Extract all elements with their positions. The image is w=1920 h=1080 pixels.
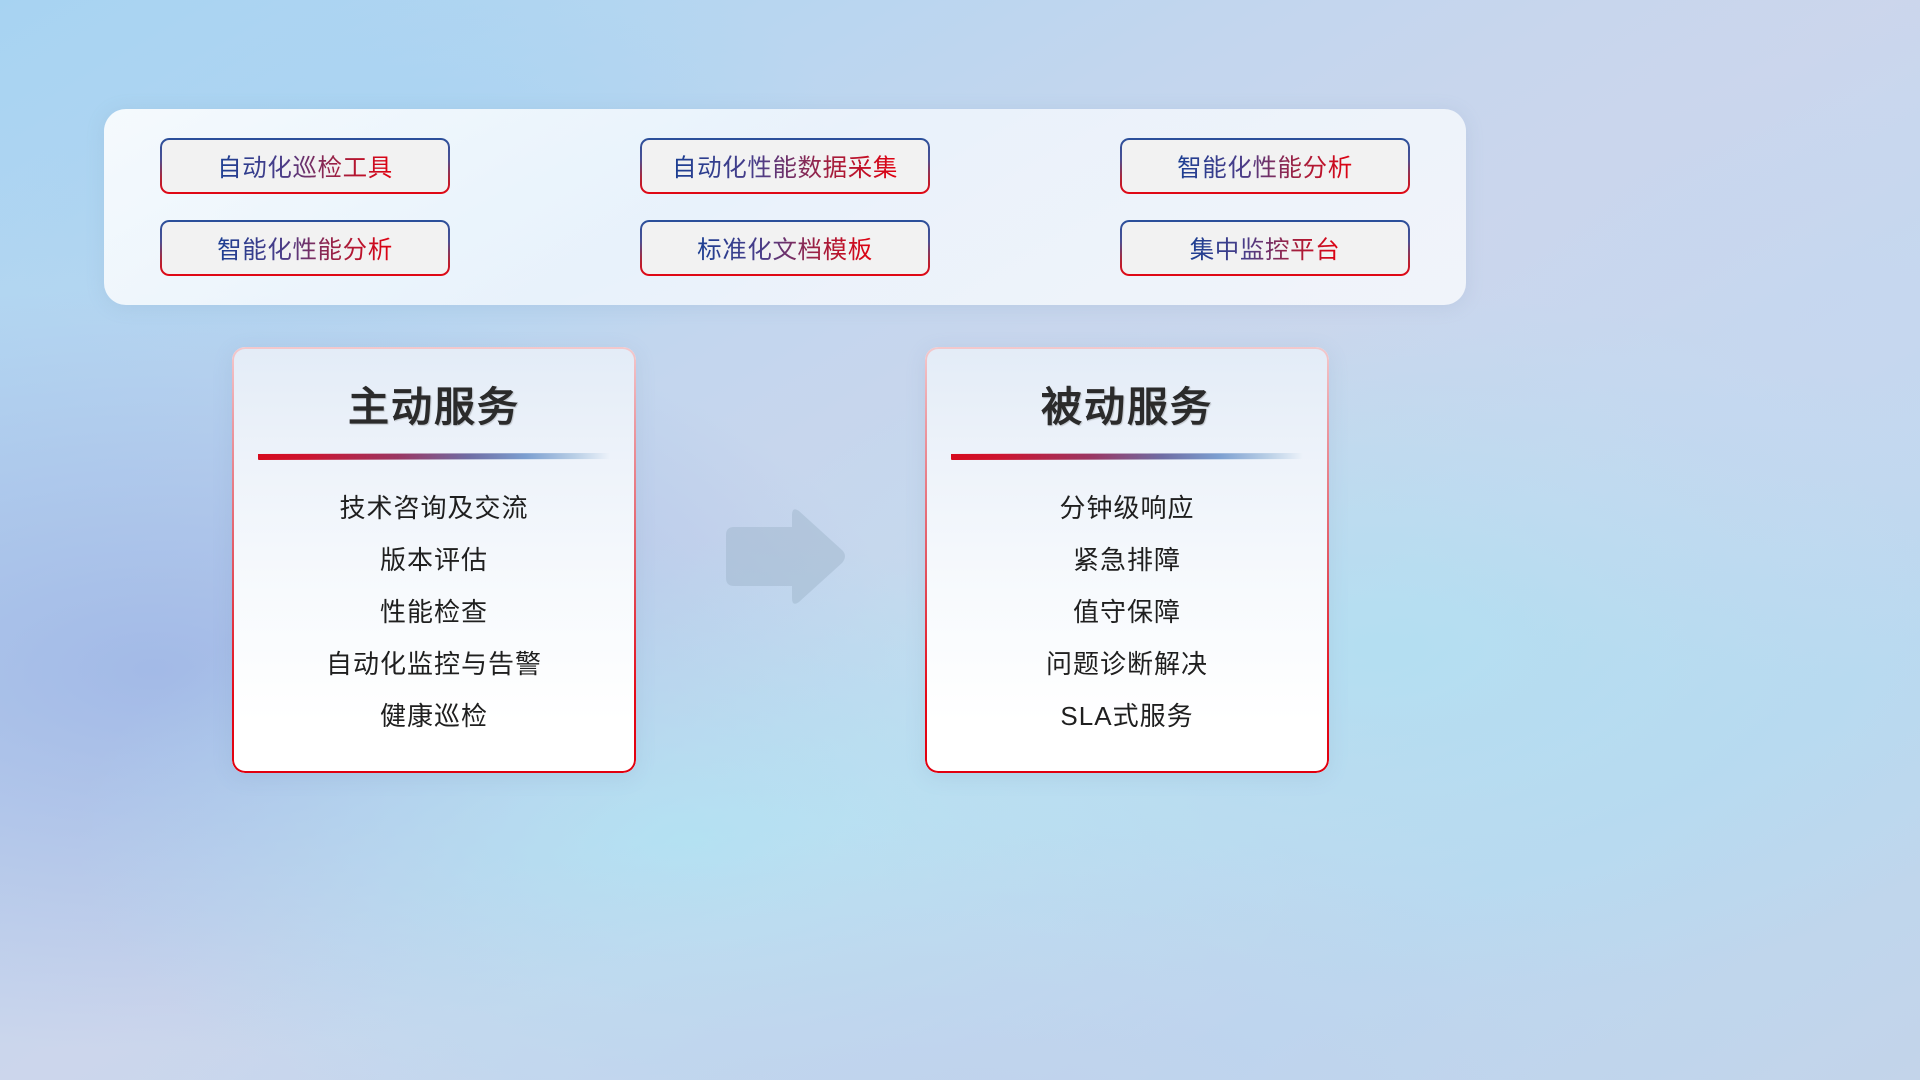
- arrow-right-icon: [718, 505, 848, 609]
- service-card-divider: [951, 453, 1303, 460]
- capability-row-1: 自动化巡检工具 自动化性能数据采集 智能化性能分析: [160, 138, 1410, 194]
- service-card-list: 分钟级响应 紧急排障 值守保障 问题诊断解决 SLA式服务: [925, 482, 1329, 742]
- capability-pill-label: 自动化巡检工具: [217, 149, 393, 184]
- capability-row-2: 智能化性能分析 标准化文档模板 集中监控平台: [160, 220, 1410, 276]
- capability-panel: 自动化巡检工具 自动化性能数据采集 智能化性能分析 智能化性能分析 标准化文档模…: [104, 109, 1466, 305]
- service-card-divider: [258, 453, 610, 460]
- list-item[interactable]: SLA式服务: [1060, 690, 1193, 742]
- capability-pill-centralized-monitoring-platform[interactable]: 集中监控平台: [1120, 220, 1410, 276]
- service-card-title: 被动服务: [1041, 373, 1213, 433]
- list-item[interactable]: 问题诊断解决: [1046, 638, 1208, 690]
- list-item[interactable]: 值守保障: [1073, 586, 1181, 638]
- list-item[interactable]: 性能检查: [380, 586, 488, 638]
- list-item[interactable]: 健康巡检: [380, 690, 488, 742]
- capability-pill-intelligent-performance-analysis[interactable]: 智能化性能分析: [1120, 138, 1410, 194]
- list-item[interactable]: 紧急排障: [1073, 534, 1181, 586]
- capability-pill-automated-inspection-tool[interactable]: 自动化巡检工具: [160, 138, 450, 194]
- list-item[interactable]: 版本评估: [380, 534, 488, 586]
- capability-pill-label: 集中监控平台: [1190, 231, 1341, 266]
- service-card-title: 主动服务: [348, 373, 520, 433]
- service-card-list: 技术咨询及交流 版本评估 性能检查 自动化监控与告警 健康巡检: [232, 482, 636, 742]
- capability-pill-label: 自动化性能数据采集: [672, 149, 898, 184]
- list-item[interactable]: 技术咨询及交流: [339, 482, 528, 534]
- capability-pill-intelligent-performance-analysis-2[interactable]: 智能化性能分析: [160, 220, 450, 276]
- capability-pill-label: 标准化文档模板: [697, 231, 873, 266]
- capability-pill-standardized-document-template[interactable]: 标准化文档模板: [640, 220, 930, 276]
- capability-pill-label: 智能化性能分析: [1177, 149, 1353, 184]
- capability-pill-automated-performance-data-collection[interactable]: 自动化性能数据采集: [640, 138, 930, 194]
- list-item[interactable]: 分钟级响应: [1059, 482, 1194, 534]
- service-card-proactive[interactable]: 主动服务 技术咨询及交流 版本评估 性能检查 自动化监控与告警 健康巡检: [232, 347, 636, 773]
- capability-pill-label: 智能化性能分析: [217, 231, 393, 266]
- service-card-body: 主动服务 技术咨询及交流 版本评估 性能检查 自动化监控与告警 健康巡检: [232, 347, 636, 773]
- service-card-reactive[interactable]: 被动服务 分钟级响应 紧急排障 值守保障 问题诊断解决 SLA式服务: [925, 347, 1329, 773]
- service-card-body: 被动服务 分钟级响应 紧急排障 值守保障 问题诊断解决 SLA式服务: [925, 347, 1329, 773]
- list-item[interactable]: 自动化监控与告警: [326, 638, 542, 690]
